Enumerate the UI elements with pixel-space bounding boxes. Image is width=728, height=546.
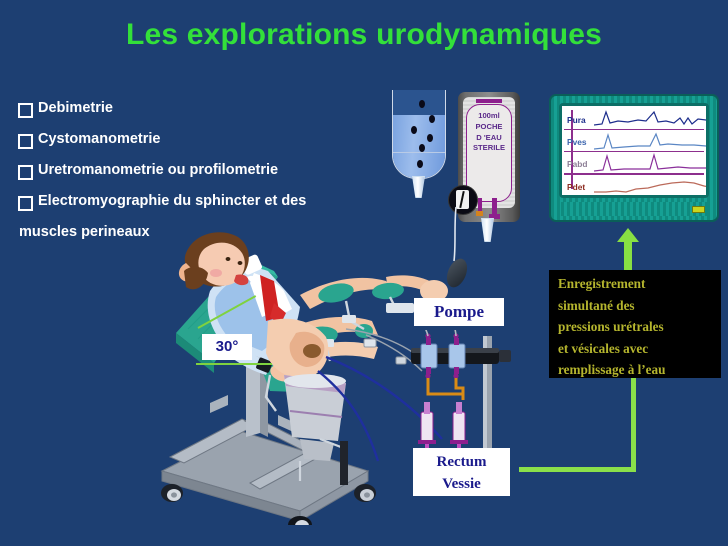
list-item: Uretromanometrie ou profilometrie [18, 162, 378, 180]
pouch-volume: 100ml [478, 111, 500, 120]
square-bullet-icon [18, 103, 33, 118]
callout-rectum-vessie: Rectum Vessie [413, 448, 510, 496]
list-item: Cystomanometrie [18, 131, 378, 149]
list-item: Debimetrie [18, 100, 378, 118]
power-led-icon [692, 206, 705, 213]
up-arrow-head-icon [617, 228, 639, 242]
pouch-word-deau: D 'EAU [476, 133, 501, 142]
square-bullet-icon [18, 134, 33, 149]
pouch-cap-icon [476, 99, 502, 103]
bullet-label: Electromyographie du sphincter et des [38, 193, 306, 210]
note-line-2: simultané des [549, 292, 721, 314]
note-line-1: Enregistrement [549, 270, 721, 292]
pouch-word-sterile: STERILE [473, 143, 505, 152]
angle-baseline [196, 363, 272, 365]
callout-angle-30: 30° [202, 334, 252, 360]
callout-pompe: Pompe [414, 298, 504, 326]
trace-label: Pura [567, 115, 586, 125]
bullet-list: Debimetrie Cystomanometrie Uretromanomet… [18, 100, 378, 240]
trace-label: Pves [567, 137, 587, 147]
note-line-5: remplissage à l’eau [549, 356, 721, 378]
callout-rectum-label: Rectum [413, 452, 510, 474]
slide-canvas: Les explorations urodynamiques Debimetri… [0, 0, 728, 546]
trace-pdet: Pdet [562, 175, 706, 195]
note-line-4: et vésicales avec [549, 335, 721, 357]
page-title: Les explorations urodynamiques [0, 18, 728, 52]
drip-chamber-icon [392, 90, 444, 195]
square-bullet-icon [18, 196, 33, 211]
urodynamics-monitor: Pura Pves Pabd [549, 94, 719, 222]
pouch-word-poche: POCHE [475, 122, 502, 131]
bullet-label: Debimetrie [38, 100, 113, 117]
bullet-label: Cystomanometrie [38, 131, 160, 148]
trace-pura: Pura [562, 108, 706, 130]
list-item: Electromyographie du sphincter et des [18, 193, 378, 211]
annotation-box: Enregistrement simultané des pressions u… [549, 270, 721, 378]
trace-pabd: Pabd [562, 152, 706, 174]
trace-label: Pabd [567, 159, 587, 169]
callout-vessie-label: Vessie [413, 474, 510, 496]
trace-pves: Pves [562, 130, 706, 152]
square-bullet-icon [18, 165, 33, 180]
up-arrow-icon [624, 238, 632, 270]
connector-vertical [631, 378, 636, 472]
trace-label: Pdet [567, 182, 585, 192]
gauge-cord [444, 205, 484, 265]
note-line-3: pressions urétrales [549, 313, 721, 335]
monitor-screen: Pura Pves Pabd [562, 106, 706, 195]
pouch-label: 100ml POCHE D 'EAU STERILE [464, 111, 514, 154]
bullet-label: Uretromanometrie ou profilometrie [38, 162, 278, 179]
